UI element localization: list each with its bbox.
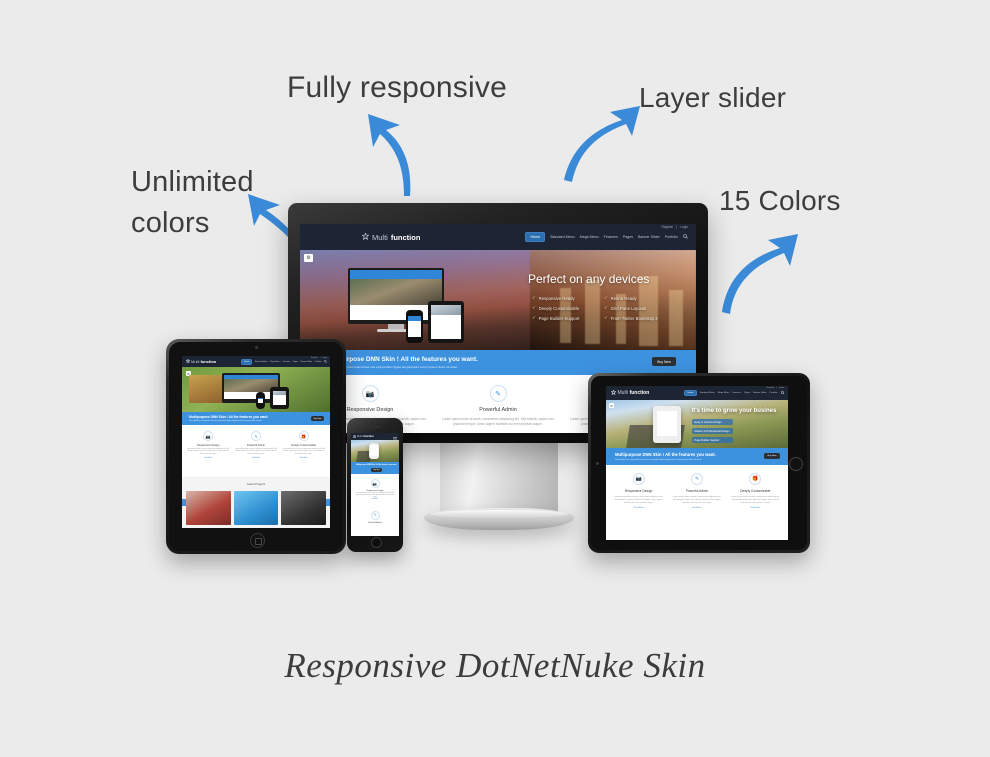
logo-text-bold: function (200, 359, 216, 364)
feature-title: Powerful Admin (368, 522, 382, 524)
hero-photo-left (189, 375, 225, 403)
projects-next-arrow-icon[interactable] (326, 499, 330, 506)
tablet-left-screen: Register | Login Multifunction Home Stan… (182, 356, 330, 528)
menu-item-home[interactable]: Home (684, 390, 697, 396)
hero-title: It's time to grow your busines (692, 408, 777, 414)
menu-item-mega-menu[interactable]: Mega Menu (580, 235, 599, 239)
star-logo-icon (362, 233, 369, 242)
three-feature-row: 📷 Responsive Design Lorem ipsum dolor si… (182, 425, 330, 477)
feature-read-more-link[interactable]: Read More (750, 507, 760, 509)
top-links-separator: | (320, 357, 321, 359)
menu-item-home[interactable]: Home (525, 232, 545, 242)
logo-text-light: Multi (357, 435, 362, 438)
feature-text: Lorem ipsum dolor sit amet, consectetur … (187, 449, 230, 456)
site-logo[interactable]: Multifunction (186, 359, 216, 364)
hero-feature-item: Grid Pane Layouts (604, 305, 666, 311)
top-links: Register | Login (767, 387, 784, 389)
curved-arrow-up-left-icon (360, 108, 422, 203)
buy-now-button[interactable]: Buy Now (311, 416, 324, 421)
cluster-phone (256, 392, 265, 409)
menu-item-pages[interactable]: Pages (293, 361, 298, 363)
register-link[interactable]: Register (311, 357, 318, 359)
gear-icon[interactable]: ⚙ (609, 403, 614, 408)
feature-read-more-link[interactable]: Read More (300, 458, 308, 459)
hero-bullet-list: Easy to Custom Design Modern & Professio… (692, 419, 733, 443)
pencil-icon: ✎ (691, 473, 703, 485)
menu-item-mega-menu[interactable]: Mega Menu (270, 361, 280, 363)
device-tablet-right: Register | Login Multifunction Home Stan… (588, 373, 810, 553)
skin-preview-phone: Register | Login Multifunction (351, 433, 399, 536)
feature-column-powerful-admin: ✎ Powerful Admin Lorem ipsum dolor sit a… (235, 431, 278, 477)
search-icon[interactable] (683, 234, 688, 240)
feature-title: Responsive Design (347, 407, 393, 413)
hero-bullet-item: Page Builder Support (692, 437, 733, 443)
hero-feature-item: Deeply Customizable (532, 305, 594, 311)
cluster-tablet (428, 301, 464, 343)
hero-feature-list: Responsive Ready Retina Ready Deeply Cus… (532, 295, 692, 321)
site-navbar: Register | Login Multifunction Home Stan… (606, 386, 788, 400)
menu-item-pages[interactable]: Pages (744, 392, 750, 394)
hero-device-cluster (348, 268, 478, 342)
main-menu[interactable]: Home Standard Menu Mega Menu Features Pa… (525, 232, 688, 242)
feature-text: Lorem ipsum dolor sit amet, consectetur … (440, 417, 556, 426)
hero-feature-item: Responsive Ready (532, 295, 594, 301)
project-thumbnail-row (182, 491, 330, 525)
register-link[interactable]: Register (387, 433, 392, 434)
menu-item-mega-menu[interactable]: Mega Menu (718, 392, 730, 394)
logo-text-light: Multi (618, 390, 629, 396)
login-link[interactable]: Login (322, 357, 327, 359)
feature-read-more-link[interactable]: Read More (692, 507, 702, 509)
site-logo[interactable]: Multifunction (353, 435, 374, 439)
feature-column-powerful-admin: ✎ Powerful Admin Lorem ipsum dolor sit a… (671, 473, 722, 540)
hero-bullet-item: Modern & Professional Design (692, 428, 733, 434)
site-logo[interactable]: Multifunction (611, 390, 649, 397)
login-link[interactable]: Login (680, 225, 688, 229)
login-link[interactable]: Login (394, 433, 397, 434)
feature-column-responsive-design: 📷 Responsive Design Lorem ipsum dolor si… (355, 479, 395, 505)
hero-feature-item: From Twitter Bootstrap 3 (604, 315, 666, 321)
menu-item-home[interactable]: Home (241, 359, 252, 365)
gift-icon: 🎁 (749, 473, 761, 485)
cta-title: Multipurpose DNN Skin ! All the features… (324, 356, 478, 363)
cta-title: Multipurpose DNN Skin ! All the features… (356, 464, 397, 466)
cta-subtitle: Duis mollisit nec commodo luctus nisi er… (615, 459, 716, 461)
main-menu[interactable]: Home Standard Menu Mega Menu Features Pa… (241, 359, 327, 365)
menu-item-features[interactable]: Features (732, 392, 741, 394)
feature-title: Responsive Design (366, 490, 383, 492)
feature-column-powerful-admin: ✎ Powerful Admin Lorem ipsum dolor sit a… (440, 385, 556, 433)
feature-column-responsive-design: 📷 Responsive Design Lorem ipsum dolor si… (613, 473, 664, 540)
menu-item-portfolio[interactable]: Portfolio (315, 361, 322, 363)
hero-banner (351, 440, 399, 462)
top-links: Register | Login (661, 225, 688, 229)
tablet-right-screen: Register | Login Multifunction Home Stan… (606, 386, 788, 540)
latest-projects-section: Latest Projects (182, 477, 330, 528)
menu-item-portfolio[interactable]: Portfolio (665, 235, 678, 239)
curved-arrow-up-right-icon (560, 104, 642, 187)
cta-bar: Multipurpose DNN Skin ! All the features… (300, 350, 696, 375)
hero-title: Perfect on any devices (528, 272, 649, 286)
feature-title: Responsive Design (625, 489, 652, 493)
page-caption: Responsive DotNetNuke Skin (0, 646, 990, 686)
star-logo-icon (353, 435, 356, 439)
menu-item-standard-menu[interactable]: Standard Menu (255, 361, 268, 363)
three-feature-stack: 📷 Responsive Design Lorem ipsum dolor si… (351, 474, 399, 536)
cta-subtitle: Duis mollisit nec commodo luctus nisi er… (189, 420, 268, 422)
menu-item-banner-slider[interactable]: Banner Slider (301, 361, 312, 363)
logo-text-bold: function (391, 233, 421, 242)
feature-title: Responsive Design (197, 444, 219, 447)
monitor-stand-base (424, 508, 574, 530)
feature-title: Powerful Admin (479, 407, 516, 413)
cta-bar: Multipurpose DNN Skin ! All the features… (606, 448, 788, 465)
camera-icon: 📷 (633, 473, 645, 485)
hero-banner: ⚙ (182, 367, 330, 412)
menu-item-banner-slider[interactable]: Banner Slider (753, 392, 766, 394)
logo-text-light: Multi (191, 359, 199, 364)
menu-item-features[interactable]: Features (283, 361, 290, 363)
feature-column-powerful-admin: ✎ Powerful Admin (355, 511, 395, 537)
hero-hand-phone (369, 443, 379, 459)
gift-icon: 🎁 (299, 431, 309, 441)
project-thumbnail[interactable] (186, 491, 231, 525)
top-links: Register | Login (387, 433, 397, 434)
menu-item-features[interactable]: Features (604, 235, 618, 239)
menu-item-banner-slider[interactable]: Banner Slider (638, 235, 660, 239)
star-logo-icon (611, 390, 616, 397)
pencil-icon: ✎ (490, 385, 507, 402)
buy-now-button[interactable]: Buy Now (371, 468, 382, 472)
feature-text: Lorem ipsum dolor sit amet, consectetur … (671, 496, 722, 505)
feature-column-deeply-customizable: 🎁 Deeply Customizable Lorem ipsum dolor … (282, 431, 325, 477)
callout-label-15-colors: 15 Colors (719, 185, 841, 217)
top-links-separator: | (776, 387, 777, 389)
buy-now-button[interactable]: Buy Now (764, 453, 780, 459)
feature-text: Lorem ipsum dolor sit amet, consectetur … (730, 496, 781, 505)
logo-text-bold: function (363, 435, 373, 438)
feature-read-more-link[interactable]: Read More (634, 507, 644, 509)
phone-screen: Register | Login Multifunction (351, 433, 399, 536)
camera-icon: 📷 (371, 479, 380, 488)
device-tablet-left: Register | Login Multifunction Home Stan… (166, 339, 346, 554)
feature-title: Deeply Customizable (291, 444, 316, 447)
buy-now-button[interactable]: Buy Now (652, 357, 676, 366)
monitor-stand-neck (440, 443, 558, 515)
menu-item-portfolio[interactable]: Portfolio (769, 392, 777, 394)
feature-text: Lorem ipsum dolor sit amet, consectetur … (282, 449, 325, 456)
home-button[interactable] (789, 457, 803, 471)
feature-text: Lorem ipsum dolor sit amet, consectetur … (613, 496, 664, 505)
pencil-icon: ✎ (371, 511, 380, 520)
site-navbar: Register | Login Multifunction Home Stan… (182, 356, 330, 367)
feature-column-deeply-customizable: 🎁 Deeply Customizable Lorem ipsum dolor … (730, 473, 781, 540)
device-smartphone: Register | Login Multifunction (347, 418, 403, 552)
curved-arrow-up-right-icon (718, 232, 800, 319)
front-camera-icon (596, 462, 599, 465)
menu-item-standard-menu[interactable]: Standard Menu (700, 392, 715, 394)
cta-title: Multipurpose DNN Skin ! All the features… (615, 452, 716, 457)
site-navbar: Register | Login Multifunction (351, 433, 399, 440)
home-button[interactable] (250, 533, 265, 548)
earpiece-speaker-icon (369, 426, 381, 428)
feature-column-responsive-design: 📷 Responsive Design Lorem ipsum dolor si… (187, 431, 230, 477)
feature-read-more-link[interactable]: Read More (204, 458, 212, 459)
register-link[interactable]: Register (661, 225, 673, 229)
feature-title: Powerful Admin (686, 489, 708, 493)
search-icon[interactable] (324, 360, 327, 364)
login-link[interactable]: Login (779, 387, 784, 389)
register-link[interactable]: Register (767, 387, 775, 389)
menu-item-pages[interactable]: Pages (623, 235, 633, 239)
front-camera-icon (255, 346, 258, 349)
cta-title: Multipurpose DNN Skin ! All the features… (189, 415, 268, 419)
site-logo[interactable]: Multifunction (362, 233, 420, 242)
pencil-icon: ✎ (251, 431, 261, 441)
logo-text-bold: function (630, 390, 650, 396)
feature-title: Deeply Customizable (740, 489, 770, 493)
hero-bullet-item: Easy to Custom Design (692, 419, 733, 425)
hero-banner: ⚙ Perfect on any devices Responsive Read… (300, 250, 696, 350)
hero-hand-phone (653, 406, 680, 443)
project-thumbnail[interactable] (234, 491, 279, 525)
skin-preview-tablet-right: Register | Login Multifunction Home Stan… (606, 386, 788, 540)
top-links: Register | Login (311, 357, 327, 359)
search-icon[interactable] (781, 391, 785, 396)
feature-text: Lorem ipsum dolor sit amet, consectetur … (235, 449, 278, 456)
hero-feature-item: Page Builder Support (532, 315, 594, 321)
callout-label-layer-slider: Layer slider (639, 82, 786, 114)
cta-bar: Multipurpose DNN Skin ! All the features… (182, 412, 330, 425)
camera-icon: 📷 (203, 431, 213, 441)
top-links-separator: | (676, 225, 677, 229)
menu-item-standard-menu[interactable]: Standard Menu (550, 235, 575, 239)
home-button[interactable] (371, 537, 382, 548)
projects-title: Latest Projects (182, 482, 330, 486)
feature-title: Powerful Admin (247, 444, 265, 447)
hero-device-cluster (222, 373, 300, 409)
star-logo-icon (186, 359, 190, 364)
feature-read-more-link[interactable]: Read More (372, 499, 378, 500)
site-navbar: Register | Login Multifunction Home Stan… (300, 224, 696, 250)
main-menu[interactable]: Home Standard Menu Mega Menu Features Pa… (684, 390, 784, 396)
projects-prev-arrow-icon[interactable] (182, 499, 186, 506)
hero-feature-item: Retina Ready (604, 295, 666, 301)
skin-preview-tablet-left: Register | Login Multifunction Home Stan… (182, 356, 330, 528)
cluster-phone (406, 310, 423, 343)
callout-label-fully-responsive: Fully responsive (287, 71, 507, 105)
hero-banner: ⚙ It's time to grow your busines Easy to… (606, 400, 788, 448)
camera-icon: 📷 (362, 385, 379, 402)
logo-text-light: Multi (372, 233, 388, 242)
three-feature-row: 📷 Responsive Design Lorem ipsum dolor si… (606, 465, 788, 540)
gear-icon[interactable]: ⚙ (304, 254, 313, 262)
cluster-tablet (270, 387, 289, 409)
hero-promo-stage: Fully responsive Layer slider Unlimited … (0, 0, 990, 757)
project-thumbnail[interactable] (281, 491, 326, 525)
feature-read-more-link[interactable]: Read More (252, 458, 260, 459)
cta-subtitle: Duis mollisit nec commodo luctus nisi er… (324, 365, 478, 369)
cta-bar: Multipurpose DNN Skin ! All the features… (351, 462, 399, 474)
